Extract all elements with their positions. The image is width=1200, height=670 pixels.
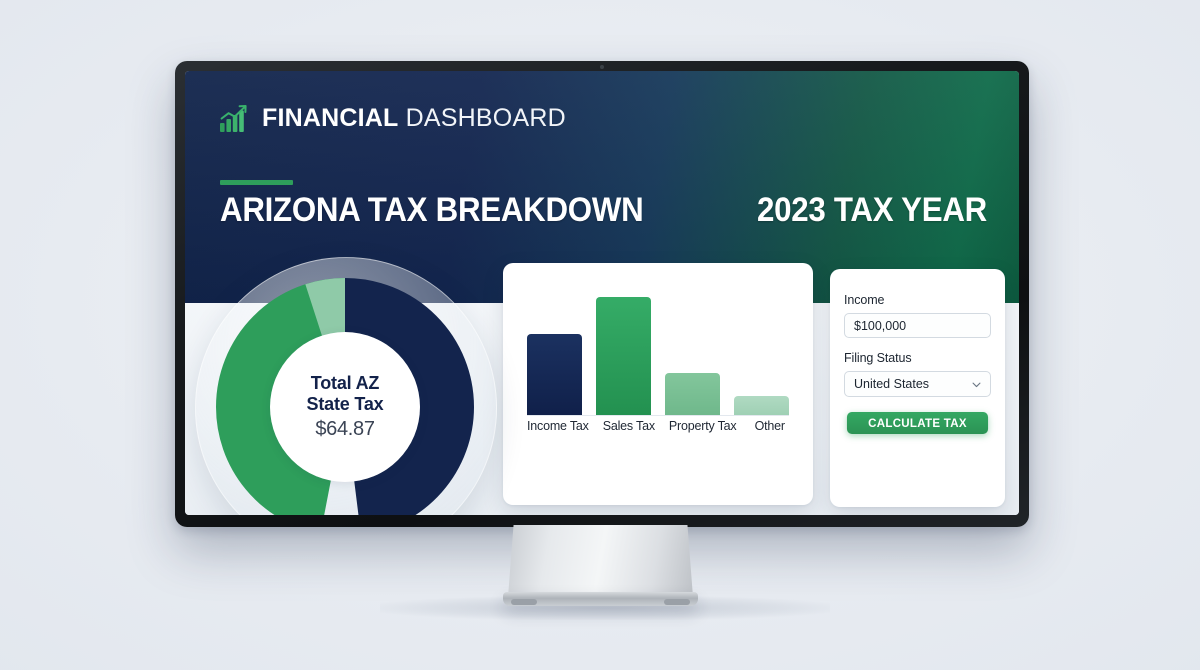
monitor-stand-neck xyxy=(508,525,693,597)
brand-row[interactable]: FINANCIAL DASHBOARD xyxy=(219,103,566,133)
filing-status-value: United States xyxy=(854,377,929,391)
brand-name: FINANCIAL DASHBOARD xyxy=(262,104,566,133)
title-accent-rule xyxy=(220,180,293,185)
bar-column-other[interactable] xyxy=(734,285,789,415)
bar-chart-axis-labels: Income Tax Sales Tax Property Tax Other xyxy=(527,419,789,433)
monitor-stand-foot xyxy=(503,592,698,606)
donut-label-line1: Total AZ xyxy=(307,373,384,394)
bar-label-property-tax: Property Tax xyxy=(669,419,737,433)
calculate-tax-button-label: CALCULATE TAX xyxy=(868,416,967,430)
title-row: ARIZONA TAX BREAKDOWN 2023 TAX YEAR xyxy=(220,193,987,227)
chevron-down-icon xyxy=(971,379,982,390)
form-fields: Income $100,000 Filing Status United Sta… xyxy=(844,293,991,434)
tax-breakdown-bar-chart-card[interactable]: Income Tax Sales Tax Property Tax Other xyxy=(503,263,813,505)
tax-calculator-form-card[interactable]: Income $100,000 Filing Status United Sta… xyxy=(830,269,1005,507)
scene-background: FINANCIAL DASHBOARD ARIZONA TAX BREAKDOW… xyxy=(0,0,1200,670)
bar-label-other: Other xyxy=(750,419,789,433)
income-input[interactable]: $100,000 xyxy=(844,313,991,338)
bar-other xyxy=(734,396,789,416)
bar-label-income-tax: Income Tax xyxy=(527,419,589,433)
bar-sales-tax xyxy=(596,297,651,415)
bar-column-sales-tax[interactable] xyxy=(596,285,651,415)
calculate-tax-button[interactable]: CALCULATE TAX xyxy=(847,412,988,434)
monitor-screen: FINANCIAL DASHBOARD ARIZONA TAX BREAKDOW… xyxy=(185,71,1019,515)
donut-total-value: $64.87 xyxy=(315,418,374,441)
donut-center-label: Total AZ State Tax $64.87 xyxy=(270,332,420,482)
filing-status-select[interactable]: United States xyxy=(844,371,991,397)
bar-property-tax xyxy=(665,373,720,415)
filing-status-label: Filing Status xyxy=(844,351,991,365)
brand-name-bold: FINANCIAL xyxy=(262,104,399,132)
page-title: ARIZONA TAX BREAKDOWN xyxy=(220,193,643,227)
total-tax-donut-chart[interactable]: Total AZ State Tax $64.87 xyxy=(195,257,495,515)
bar-column-property-tax[interactable] xyxy=(665,285,720,415)
bar-label-sales-tax: Sales Tax xyxy=(603,419,655,433)
monitor-bezel: FINANCIAL DASHBOARD ARIZONA TAX BREAKDOW… xyxy=(175,61,1029,527)
bar-income-tax xyxy=(527,334,582,415)
bar-column-income-tax[interactable] xyxy=(527,285,582,415)
donut-label-line2: State Tax xyxy=(307,394,384,415)
income-input-value: $100,000 xyxy=(854,319,906,333)
brand-name-light: DASHBOARD xyxy=(406,104,566,132)
bar-chart-growth-icon xyxy=(219,103,249,133)
webcam-dot xyxy=(600,65,604,69)
income-label: Income xyxy=(844,293,991,307)
bar-chart-plot xyxy=(527,285,789,416)
tax-year-label: 2023 TAX YEAR xyxy=(757,193,987,227)
